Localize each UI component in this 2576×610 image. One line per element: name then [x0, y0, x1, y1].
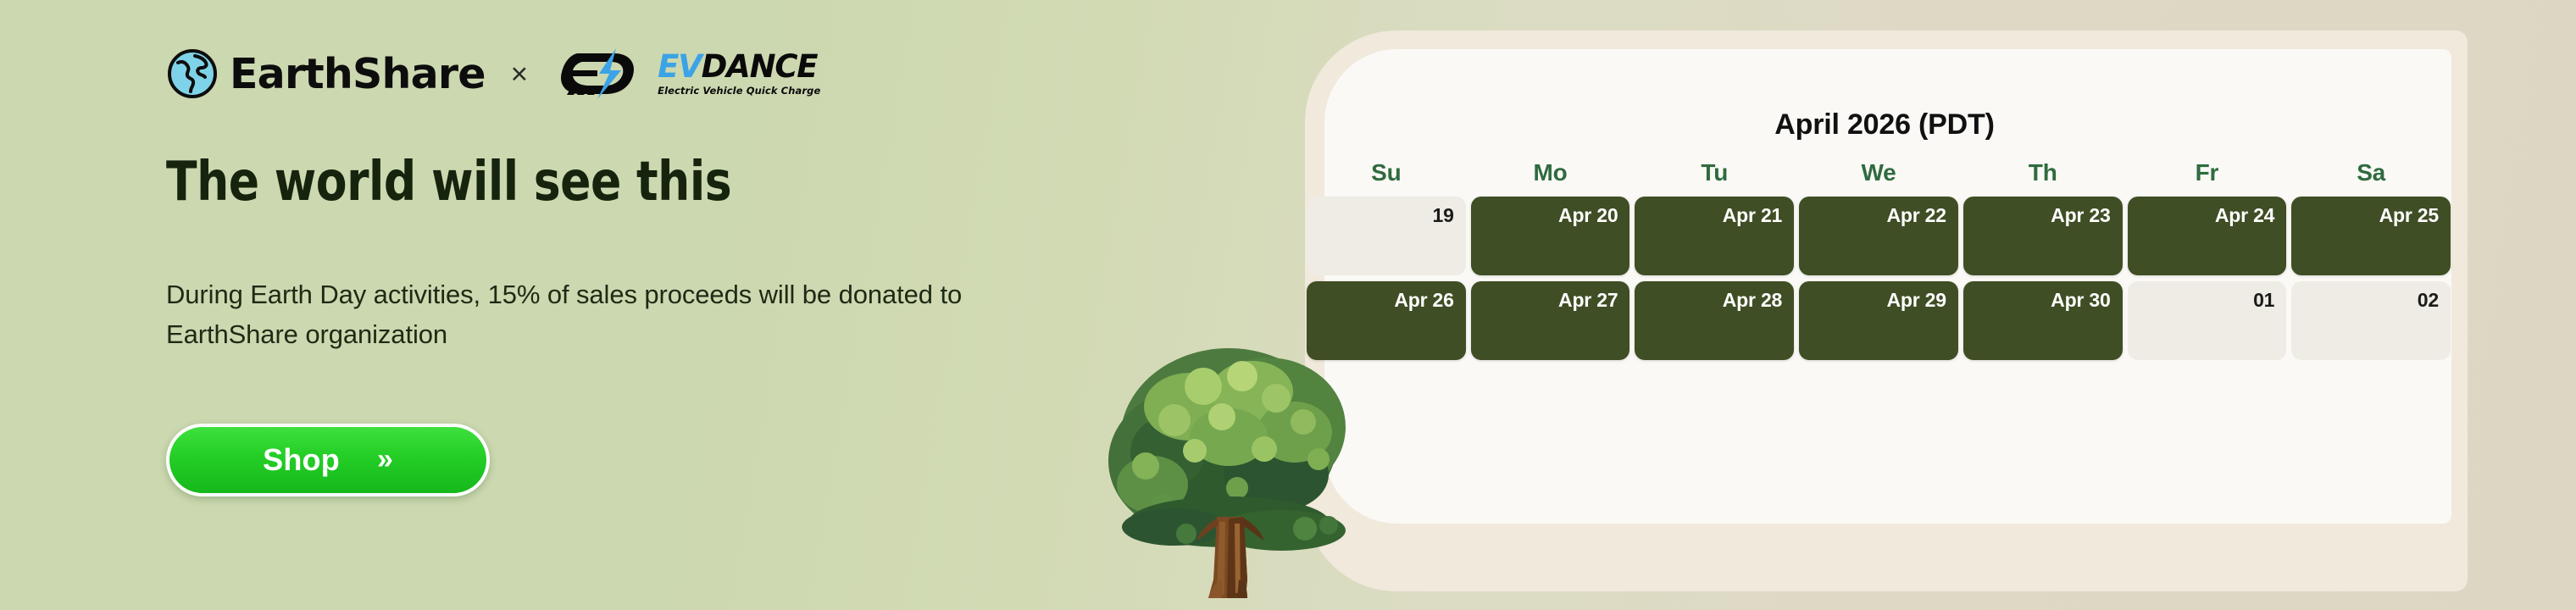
shop-button[interactable]: Shop » [166, 424, 490, 496]
calendar-day-cell[interactable]: Apr 27 [1471, 281, 1630, 360]
evdance-lockup: EVDANCE Electric Vehicle Quick Charge [552, 46, 820, 102]
weekday-label-sa: Sa [2291, 159, 2451, 197]
weekday-label-mo: Mo [1471, 159, 1630, 197]
earthshare-wordmark: EarthShare [230, 53, 486, 95]
evdance-wordmark: EVDANCE [658, 51, 820, 82]
calendar-day-cell[interactable]: Apr 26 [1307, 281, 1466, 360]
day-label: Apr 20 [1558, 204, 1618, 227]
calendar-day-cell[interactable]: Apr 30 [1963, 281, 2123, 360]
evdance-ev-text: EV [658, 48, 702, 85]
day-label: Apr 26 [1394, 289, 1453, 312]
day-label: Apr 23 [2051, 204, 2110, 227]
shop-button-label: Shop [263, 442, 340, 478]
day-label: 01 [2253, 289, 2274, 312]
weekday-label-we: We [1799, 159, 1958, 197]
calendar-day-cell[interactable]: Apr 25 [2291, 197, 2451, 275]
day-label: 19 [1433, 204, 1454, 227]
calendar-day-cell[interactable]: 19 [1307, 197, 1466, 275]
partnership-times-icon: × [511, 59, 528, 89]
page-title: The world will see this [166, 154, 731, 211]
day-label: Apr 29 [1886, 289, 1946, 312]
weekday-label-su: Su [1307, 159, 1466, 197]
evdance-tagline: Electric Vehicle Quick Charge [658, 85, 820, 97]
calendar-day-cell[interactable]: 02 [2291, 281, 2451, 360]
day-label: Apr 25 [2379, 204, 2439, 227]
calendar-weekday-header: Su Mo Tu We Th Fr Sa [1307, 159, 2451, 197]
day-label: Apr 28 [1723, 289, 1782, 312]
calendar-grid: Su Mo Tu We Th Fr Sa 19 Apr 20 Apr 21 Ap… [1307, 159, 2451, 366]
day-label: Apr 30 [2051, 289, 2110, 312]
day-label: Apr 22 [1886, 204, 1946, 227]
calendar-day-cell[interactable]: Apr 23 [1963, 197, 2123, 275]
hero-left-column: EarthShare × EVDANCE Electric Vehicle Qu… [166, 0, 1166, 610]
calendar-day-cell[interactable]: 01 [2128, 281, 2287, 360]
globe-icon [166, 47, 219, 100]
double-chevron-right-icon: » [377, 445, 393, 474]
day-label: 02 [2418, 289, 2439, 312]
evdance-dance-text: DANCE [702, 48, 818, 85]
ev-lightning-logo-icon [552, 48, 652, 99]
day-label: Apr 21 [1723, 204, 1782, 227]
calendar-month-title: April 2026 (PDT) [1325, 108, 2444, 141]
weekday-label-tu: Tu [1635, 159, 1794, 197]
calendar-day-cell[interactable]: Apr 24 [2128, 197, 2287, 275]
weekday-label-th: Th [1963, 159, 2123, 197]
day-label: Apr 24 [2215, 204, 2274, 227]
calendar-day-cell[interactable]: Apr 20 [1471, 197, 1630, 275]
calendar-day-cell[interactable]: Apr 21 [1635, 197, 1794, 275]
weekday-label-fr: Fr [2128, 159, 2287, 197]
calendar-day-cell[interactable]: Apr 28 [1635, 281, 1794, 360]
hero-subcopy: During Earth Day activities, 15% of sale… [166, 274, 1081, 354]
brand-lockup: EarthShare × EVDANCE Electric Vehicle Qu… [166, 37, 820, 110]
calendar-week-row: Apr 26 Apr 27 Apr 28 Apr 29 Apr 30 01 02 [1307, 281, 2451, 360]
calendar-day-cell[interactable]: Apr 22 [1799, 197, 1958, 275]
calendar-day-cell[interactable]: Apr 29 [1799, 281, 1958, 360]
day-label: Apr 27 [1558, 289, 1618, 312]
calendar-week-row: 19 Apr 20 Apr 21 Apr 22 Apr 23 Apr 24 Ap… [1307, 197, 2451, 275]
